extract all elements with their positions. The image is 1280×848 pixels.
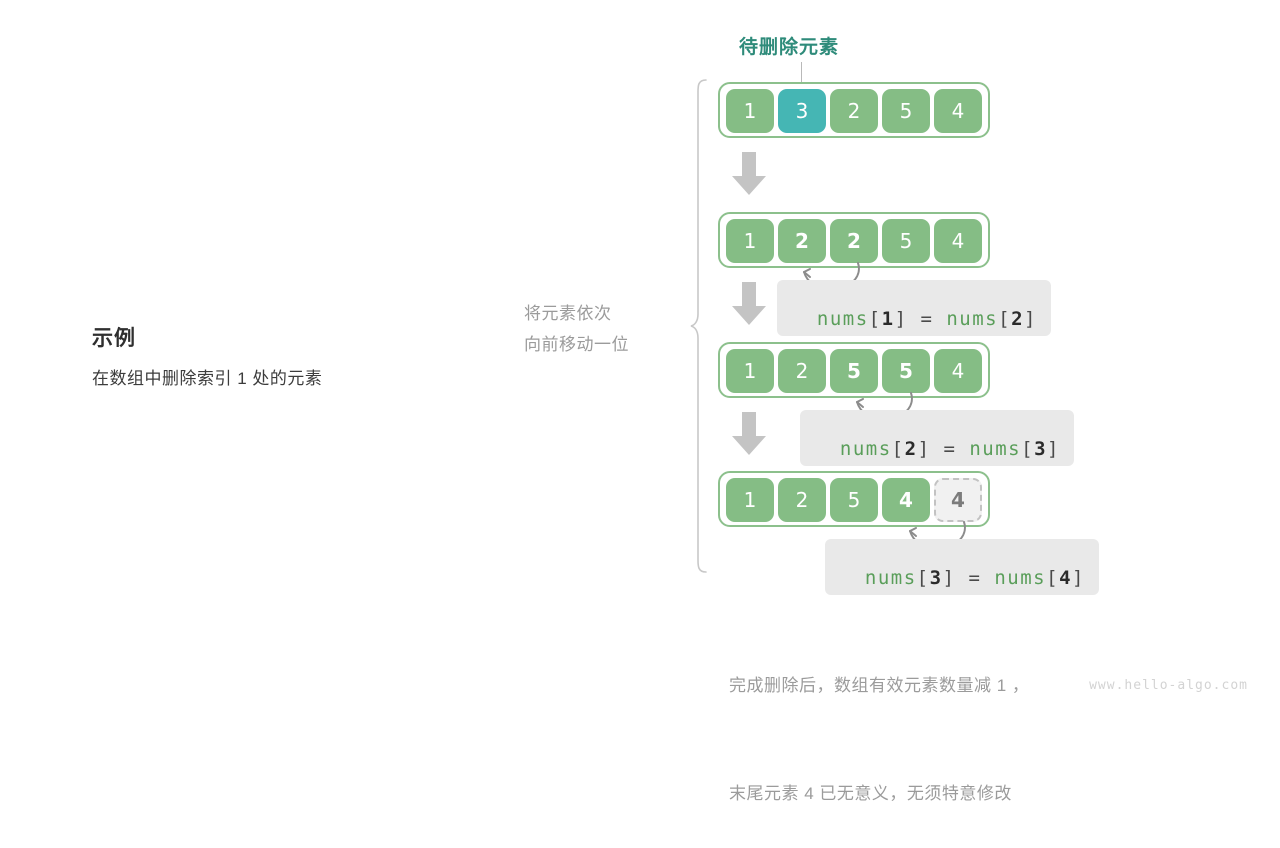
array-cell[interactable]: 4	[934, 219, 982, 263]
down-arrow-icon	[731, 152, 767, 196]
code-dst-index: 1	[882, 308, 895, 330]
array-cell-highlighted[interactable]: 3	[778, 89, 826, 133]
array-row: 1 3 2 5 4	[718, 82, 990, 138]
code-dst-name: nums	[840, 438, 892, 460]
array-row: 1 2 2 5 4	[718, 212, 990, 268]
page-title: 示例	[92, 322, 472, 352]
array-row: 1 2 5 4 4	[718, 471, 990, 527]
array-cell[interactable]: 4	[934, 89, 982, 133]
code-dst-name: nums	[817, 308, 869, 330]
callout-label: 待删除元素	[739, 32, 839, 59]
code-src-index: 2	[1011, 308, 1024, 330]
shift-annotation: 将元素依次 向前移动一位	[524, 298, 674, 360]
array-cell[interactable]: 4	[882, 478, 930, 522]
array-cell[interactable]: 2	[830, 89, 878, 133]
shift-annotation-line2: 向前移动一位	[524, 329, 674, 360]
bottom-caption-line1: 完成删除后，数组有效元素数量减 1 ，	[729, 668, 1029, 704]
code-src-name: nums	[969, 438, 1021, 460]
site-watermark: www.hello-algo.com	[1089, 678, 1248, 693]
array-cell[interactable]: 5	[882, 349, 930, 393]
grouping-brace	[688, 78, 710, 579]
code-src-index: 3	[1034, 438, 1047, 460]
code-assignment-label: nums[2] = nums[3]	[800, 410, 1074, 466]
bottom-caption-line2: 末尾元素 4 已无意义，无须特意修改	[729, 776, 1029, 812]
code-src-index: 4	[1059, 567, 1072, 589]
page-subtitle: 在数组中删除索引 1 处的元素	[92, 364, 472, 389]
code-operator: =	[956, 567, 995, 589]
example-description: 示例 在数组中删除索引 1 处的元素	[92, 322, 472, 389]
code-operator: =	[931, 438, 970, 460]
code-assignment-label: nums[1] = nums[2]	[777, 280, 1051, 336]
array-cell-invalid[interactable]: 4	[934, 478, 982, 522]
array-cell[interactable]: 5	[882, 89, 930, 133]
array-row: 1 2 5 5 4	[718, 342, 990, 398]
code-dst-name: nums	[865, 567, 917, 589]
bottom-caption: 完成删除后，数组有效元素数量减 1 ， 末尾元素 4 已无意义，无须特意修改	[729, 596, 1029, 848]
array-cell[interactable]: 2	[830, 219, 878, 263]
code-assignment-label: nums[3] = nums[4]	[825, 539, 1099, 595]
array-cell[interactable]: 2	[778, 349, 826, 393]
array-cell[interactable]: 2	[778, 478, 826, 522]
code-dst-index: 2	[905, 438, 918, 460]
array-cell[interactable]: 1	[726, 89, 774, 133]
array-cell[interactable]: 5	[882, 219, 930, 263]
down-arrow-icon	[731, 282, 767, 326]
code-src-name: nums	[994, 567, 1046, 589]
array-cell[interactable]: 1	[726, 349, 774, 393]
array-cell[interactable]: 2	[778, 219, 826, 263]
down-arrow-icon	[731, 412, 767, 456]
array-cell[interactable]: 1	[726, 219, 774, 263]
code-src-name: nums	[946, 308, 998, 330]
code-operator: =	[908, 308, 947, 330]
array-cell[interactable]: 4	[934, 349, 982, 393]
array-cell[interactable]: 5	[830, 349, 878, 393]
array-cell[interactable]: 5	[830, 478, 878, 522]
shift-annotation-line1: 将元素依次	[524, 298, 674, 329]
code-dst-index: 3	[930, 567, 943, 589]
array-cell[interactable]: 1	[726, 478, 774, 522]
